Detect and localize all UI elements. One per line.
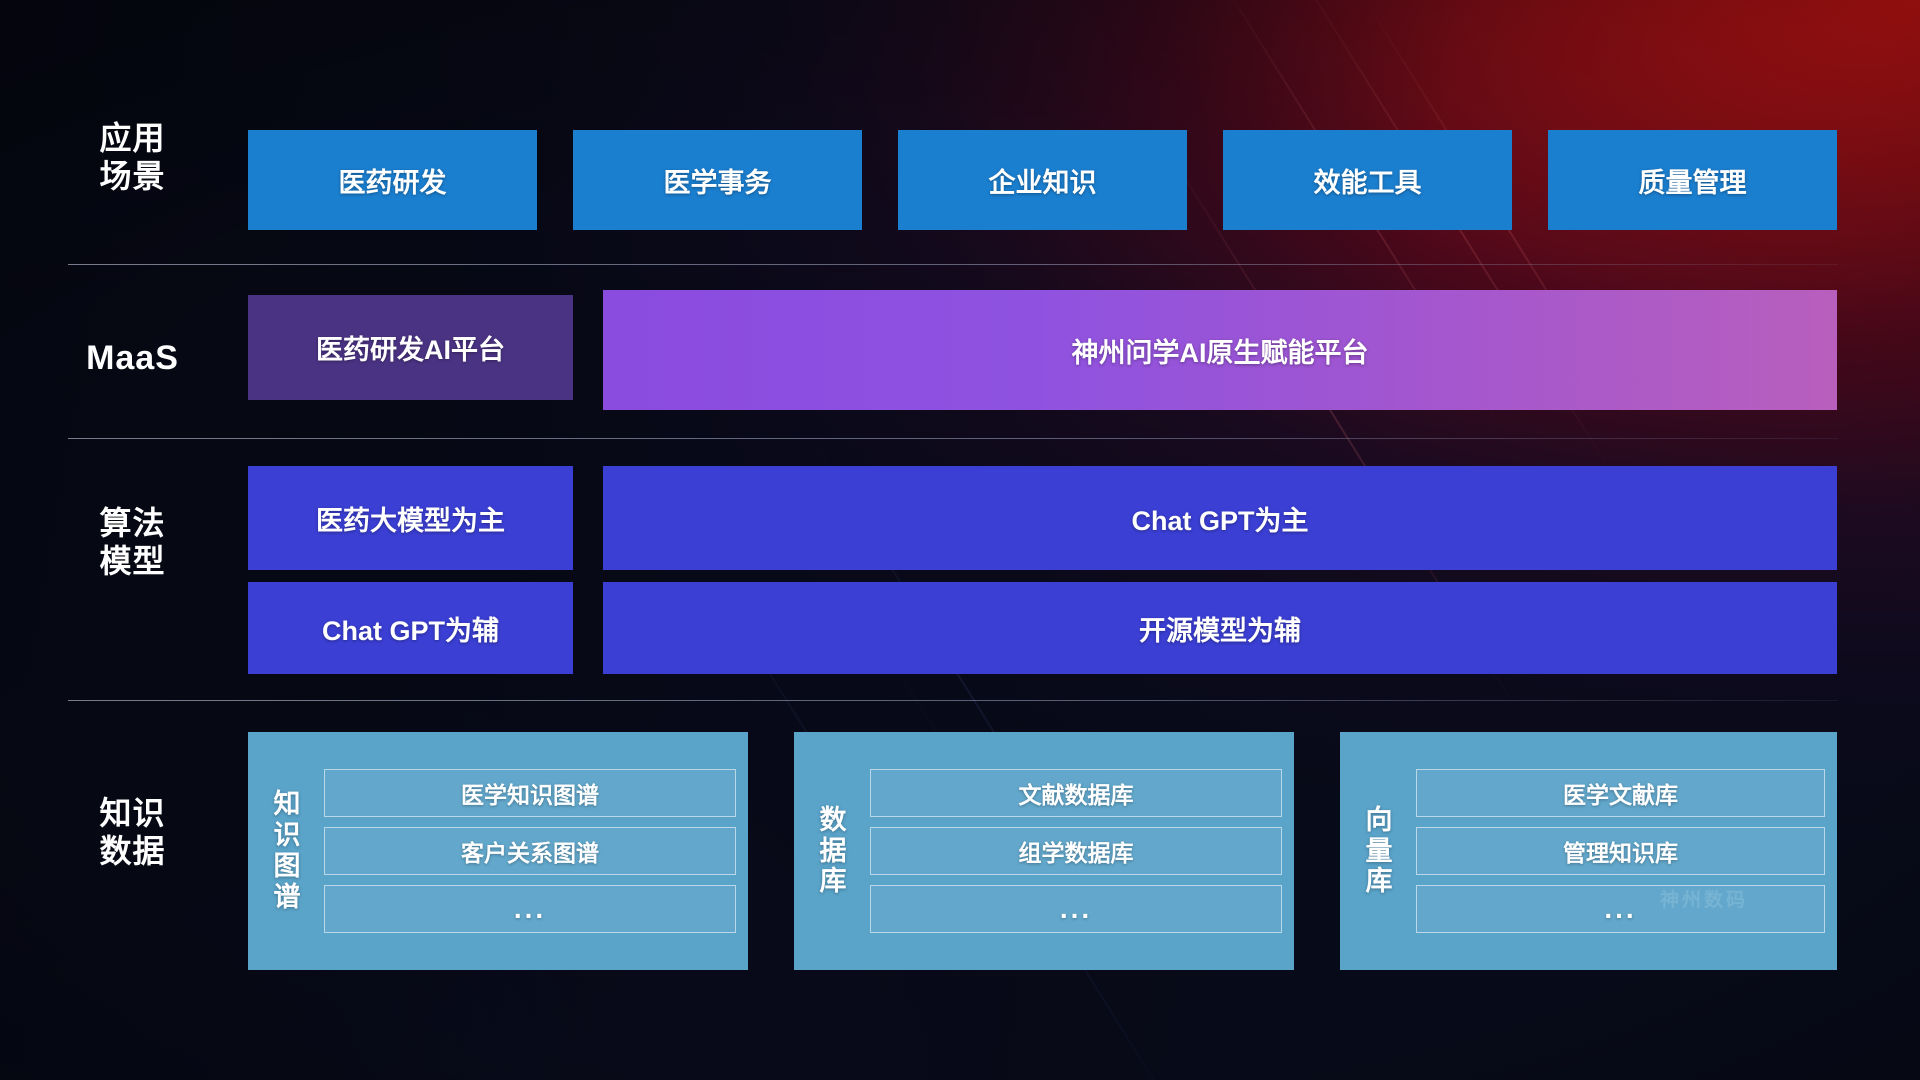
layer-label-line-1: 知识 xyxy=(60,795,205,833)
layer-label-line-1: 算法 xyxy=(60,505,205,543)
algo-box-left-1[interactable]: Chat GPT为辅 xyxy=(248,582,573,674)
layer-label-maas: MaaS xyxy=(60,338,205,378)
layer-label-knowledge-data: 知识 数据 xyxy=(60,795,205,871)
app-box-4[interactable]: 质量管理 xyxy=(1548,130,1837,230)
layer-label-line-1: 应用 xyxy=(60,120,205,158)
knowledge-item[interactable]: 文献数据库 xyxy=(870,769,1282,817)
knowledge-group-1[interactable]: 数 据 库 文献数据库 组学数据库 ... xyxy=(794,732,1294,970)
knowledge-items-1: 文献数据库 组学数据库 ... xyxy=(870,769,1282,933)
name-char: 谱 xyxy=(264,882,310,913)
watermark: 神州数码 xyxy=(1660,885,1748,912)
knowledge-group-name-1: 数 据 库 xyxy=(810,805,856,897)
knowledge-item[interactable]: 医学知识图谱 xyxy=(324,769,736,817)
name-char: 识 xyxy=(264,820,310,851)
knowledge-items-2: 医学文献库 管理知识库 ... xyxy=(1416,769,1825,933)
name-char: 向 xyxy=(1356,805,1402,836)
algo-box-right-0[interactable]: Chat GPT为主 xyxy=(603,466,1837,570)
name-char: 数 xyxy=(810,805,856,836)
divider-1 xyxy=(68,264,1838,265)
knowledge-items-0: 医学知识图谱 客户关系图谱 ... xyxy=(324,769,736,933)
knowledge-item[interactable]: 管理知识库 xyxy=(1416,827,1825,875)
knowledge-item[interactable]: 组学数据库 xyxy=(870,827,1282,875)
app-box-2[interactable]: 企业知识 xyxy=(898,130,1187,230)
algo-box-right-1[interactable]: 开源模型为辅 xyxy=(603,582,1837,674)
layer-label-application-scenarios: 应用 场景 xyxy=(60,120,205,196)
layer-label-line-2: 数据 xyxy=(60,833,205,871)
maas-platform-box[interactable]: 神州问学AI原生赋能平台 xyxy=(603,290,1837,410)
name-char: 据 xyxy=(810,836,856,867)
name-char: 图 xyxy=(264,851,310,882)
maas-left-box[interactable]: 医药研发AI平台 xyxy=(248,295,573,400)
algo-box-left-0[interactable]: 医药大模型为主 xyxy=(248,466,573,570)
knowledge-item-more[interactable]: ... xyxy=(324,885,736,933)
name-char: 库 xyxy=(810,866,856,897)
layer-label-line-2: 场景 xyxy=(60,158,205,196)
app-box-0[interactable]: 医药研发 xyxy=(248,130,537,230)
app-box-1[interactable]: 医学事务 xyxy=(573,130,862,230)
layer-label-line-2: 模型 xyxy=(60,543,205,581)
architecture-diagram: 应用 场景 医药研发 医学事务 企业知识 效能工具 质量管理 MaaS 医药研发… xyxy=(0,0,1920,1080)
divider-2 xyxy=(68,438,1838,439)
knowledge-item[interactable]: 客户关系图谱 xyxy=(324,827,736,875)
name-char: 知 xyxy=(264,789,310,820)
knowledge-group-2[interactable]: 向 量 库 医学文献库 管理知识库 ... xyxy=(1340,732,1837,970)
knowledge-item-more[interactable]: ... xyxy=(1416,885,1825,933)
divider-3 xyxy=(68,700,1838,701)
knowledge-group-name-0: 知 识 图 谱 xyxy=(264,789,310,912)
layer-label-algorithm-model: 算法 模型 xyxy=(60,505,205,581)
knowledge-item-more[interactable]: ... xyxy=(870,885,1282,933)
knowledge-group-name-2: 向 量 库 xyxy=(1356,805,1402,897)
name-char: 量 xyxy=(1356,836,1402,867)
app-box-3[interactable]: 效能工具 xyxy=(1223,130,1512,230)
layer-label-line-1: MaaS xyxy=(60,338,205,378)
knowledge-group-0[interactable]: 知 识 图 谱 医学知识图谱 客户关系图谱 ... xyxy=(248,732,748,970)
name-char: 库 xyxy=(1356,866,1402,897)
knowledge-item[interactable]: 医学文献库 xyxy=(1416,769,1825,817)
